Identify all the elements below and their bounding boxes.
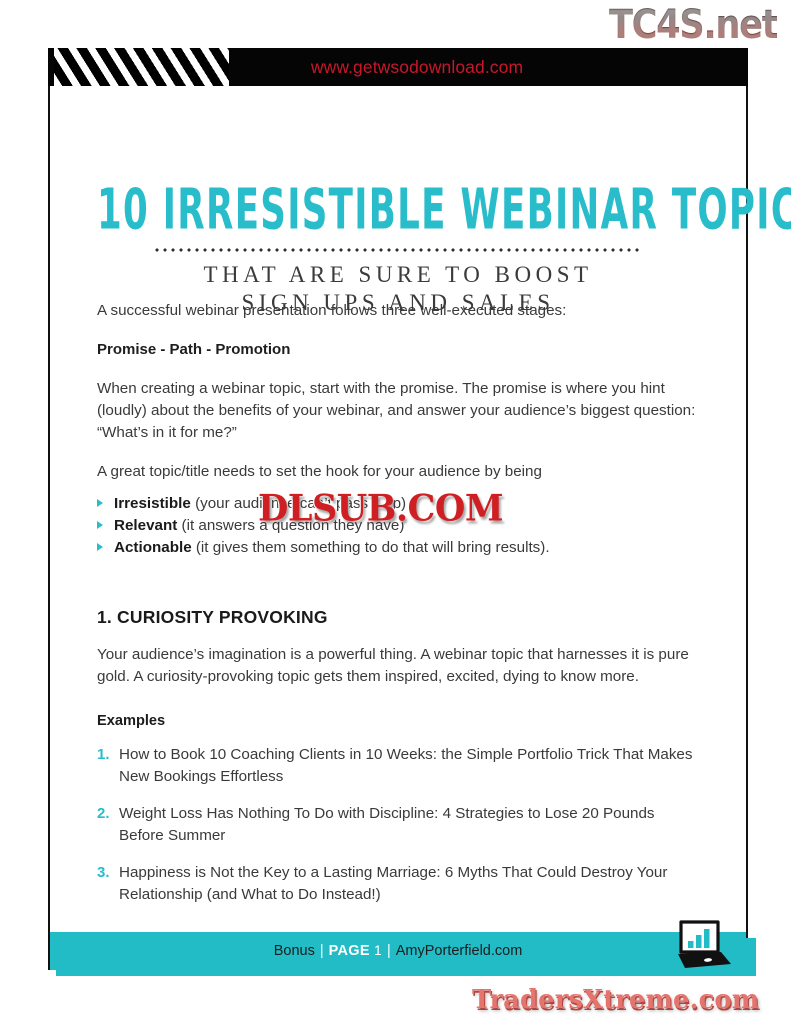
footer-separator-2: |: [387, 943, 391, 959]
section-heading: 1. CURIOSITY PROVOKING: [97, 606, 697, 628]
trait-name: Actionable: [114, 539, 192, 556]
list-item: Actionable (it gives them something to d…: [97, 537, 697, 558]
list-item-number: 3.: [97, 862, 110, 884]
hook-lead-paragraph: A great topic/title needs to set the hoo…: [97, 461, 697, 483]
tradersxtreme-watermark: TradersXtreme.com: [472, 985, 759, 1015]
footer-bonus-label: Bonus: [274, 943, 315, 959]
intro-paragraph: A successful webinar presentation follow…: [97, 300, 697, 322]
list-item-text: Happiness is Not the Key to a Lasting Ma…: [119, 864, 667, 903]
document-body: A successful webinar presentation follow…: [97, 300, 697, 921]
stages-line: Promise - Path - Promotion: [97, 339, 697, 361]
page-title: 10 IRRESISTIBLE WEBINAR TOPICS: [97, 176, 699, 242]
list-item-text: Weight Loss Has Nothing To Do with Disci…: [119, 805, 655, 844]
list-item-number: 2.: [97, 803, 110, 825]
footer-bar: Bonus|PAGE 1|AmyPorterfield.com: [50, 932, 746, 970]
examples-list: 1. How to Book 10 Coaching Clients in 10…: [97, 744, 697, 906]
footer-separator-1: |: [320, 943, 324, 959]
triangle-bullet-icon: [97, 521, 103, 529]
list-item: 2. Weight Loss Has Nothing To Do with Di…: [97, 803, 697, 847]
triangle-bullet-icon: [97, 499, 103, 507]
promise-paragraph: When creating a webinar topic, start wit…: [97, 378, 697, 444]
list-item-text: How to Book 10 Coaching Clients in 10 We…: [119, 746, 692, 785]
trait-detail: (it gives them something to do that will…: [196, 539, 550, 556]
section-body-paragraph: Your audience’s imagination is a powerfu…: [97, 644, 697, 688]
laptop-chart-icon: [665, 918, 735, 976]
examples-label: Examples: [97, 710, 697, 732]
dotted-divider: [153, 248, 643, 252]
subtitle-line-1: THAT ARE SURE TO BOOST: [203, 262, 592, 287]
list-item-number: 1.: [97, 744, 110, 766]
tc4s-watermark: TC4S.net: [609, 2, 777, 48]
trait-name: Relevant: [114, 517, 177, 534]
triangle-bullet-icon: [97, 543, 103, 551]
dlsub-watermark: DLSUB.COM: [258, 487, 503, 530]
footer-page-number: 1: [374, 943, 382, 958]
footer-text: Bonus|PAGE 1|AmyPorterfield.com: [50, 932, 746, 970]
footer-site-link[interactable]: AmyPorterfield.com: [396, 943, 523, 959]
footer-page-word: PAGE: [329, 943, 370, 959]
list-item: 3. Happiness is Not the Key to a Lasting…: [97, 862, 697, 906]
list-item: 1. How to Book 10 Coaching Clients in 10…: [97, 744, 697, 788]
trait-name: Irresistible: [114, 495, 191, 512]
footer-page-indicator: PAGE 1: [329, 943, 382, 959]
